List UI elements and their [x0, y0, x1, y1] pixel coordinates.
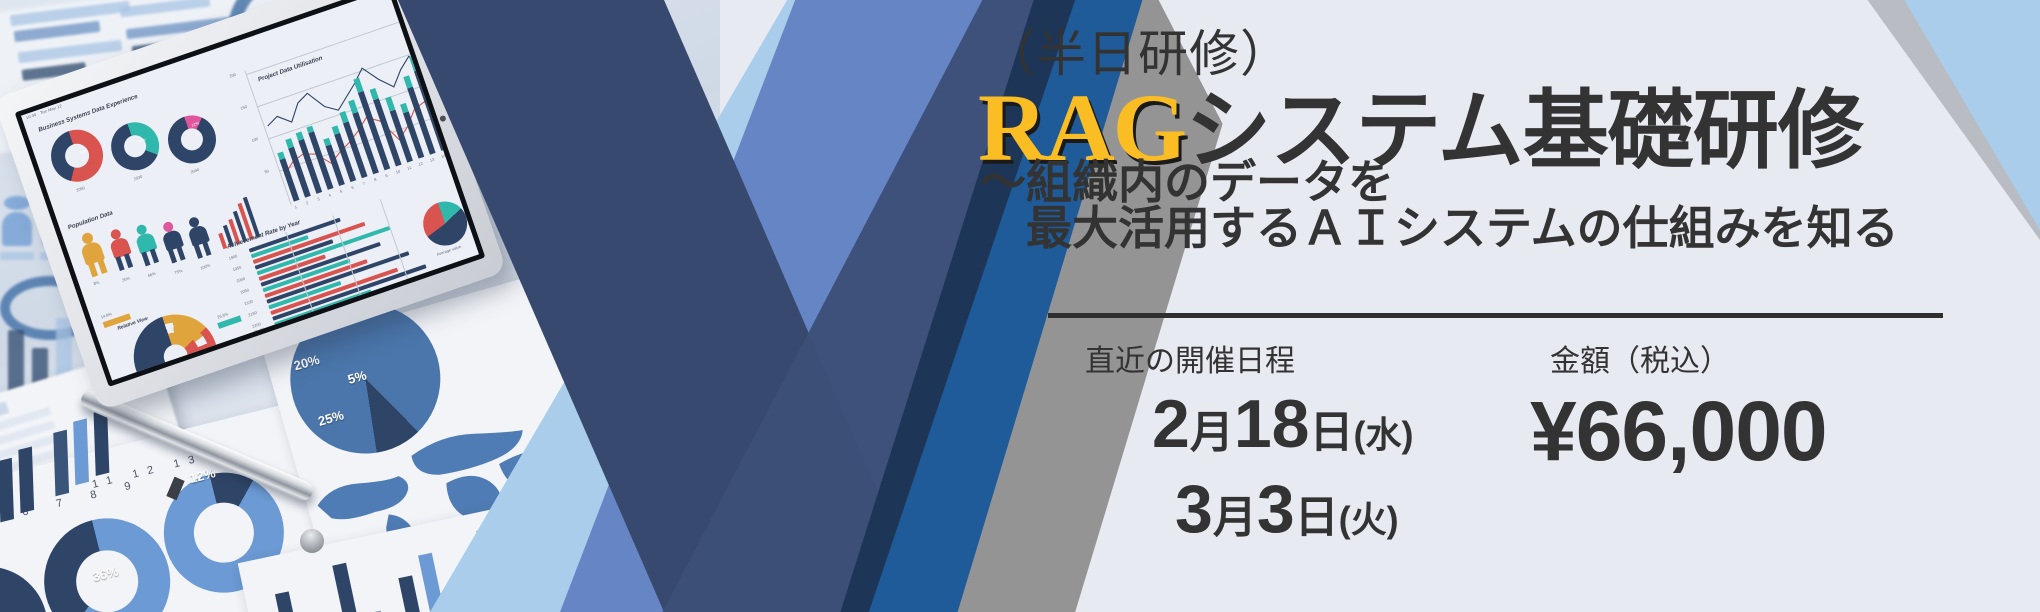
price-value: ¥66,000	[1530, 383, 1827, 480]
date-day-unit: 日	[1309, 408, 1353, 457]
date-day-unit: 日	[1295, 493, 1339, 542]
y-tick: 1950	[232, 265, 242, 273]
population-pct: 75%	[174, 268, 183, 275]
price-section-label: 金額（税込）	[1550, 336, 1730, 380]
y-tick: 2250	[255, 333, 265, 341]
date-day-number: 18	[1234, 386, 1310, 462]
donut-label: 2050	[75, 185, 85, 193]
relative-pct: 26.5%	[216, 311, 228, 319]
date-weekday: (水)	[1353, 414, 1413, 455]
x-tick: 15	[452, 149, 458, 155]
pie-caption: Average value	[436, 244, 462, 257]
y-tick: 2100	[244, 299, 254, 307]
session-date-1: 2月18日(水)	[1152, 385, 1413, 463]
pie-chart	[417, 196, 473, 252]
x-tick: 100	[315, 323, 323, 330]
donut-label: 2040	[190, 167, 200, 175]
text-panel: （半日研修） RAGシステム基礎研修 〜組織内のデータを 最大活用するＡＩシステ…	[930, 0, 2040, 612]
y-tick: 1900	[228, 253, 238, 261]
y-tick: 2150	[247, 310, 257, 318]
population-pct: 8%	[93, 280, 100, 287]
population-pct: 25%	[121, 275, 130, 282]
y-tick: 200	[229, 72, 237, 79]
date-section-label: 直近の開催日程	[1085, 336, 1295, 380]
y-tick: 50	[264, 168, 270, 174]
date-month-number: 3	[1175, 471, 1213, 547]
date-day-number: 3	[1257, 471, 1295, 547]
y-tick: 2000	[236, 276, 246, 284]
donut-chart	[161, 109, 222, 170]
x-tick: 200	[410, 291, 418, 298]
date-month-number: 2	[1152, 386, 1190, 462]
date-month-unit: 月	[1190, 408, 1234, 457]
bg-bar	[0, 252, 34, 260]
donut-chart	[44, 123, 110, 189]
x-tick: 50	[291, 332, 297, 338]
bg-person-icon	[2, 212, 32, 246]
divider-rule	[1048, 313, 1943, 318]
x-tick: 150	[363, 307, 371, 314]
y-tick: 100	[251, 136, 259, 143]
relative-pct: 14.8%	[100, 311, 112, 319]
population-pct: 100%	[200, 262, 211, 270]
tablet-camera	[439, 115, 447, 123]
y-tick: 2050	[240, 287, 250, 295]
subtitle-line-2: 最大活用するＡＩシステムの仕組みを知る	[1026, 192, 1899, 258]
session-date-2: 3月3日(火)	[1175, 470, 1399, 548]
seminar-banner: 50% 36% 12% 5 6 7 8 9 11 12 13 20% 5% 25…	[0, 0, 2040, 612]
status-time: 10:30	[25, 112, 37, 120]
bg-person-icon	[4, 196, 30, 210]
date-weekday: (火)	[1339, 499, 1399, 540]
status-date: Tue May 12	[39, 103, 62, 115]
population-heading: Population Data	[67, 209, 114, 231]
y-tick: 150	[240, 104, 248, 111]
donut-chart	[105, 116, 166, 177]
date-month-unit: 月	[1213, 493, 1257, 542]
donut-label: 2030	[133, 174, 143, 182]
population-pct: 56%	[147, 271, 156, 278]
